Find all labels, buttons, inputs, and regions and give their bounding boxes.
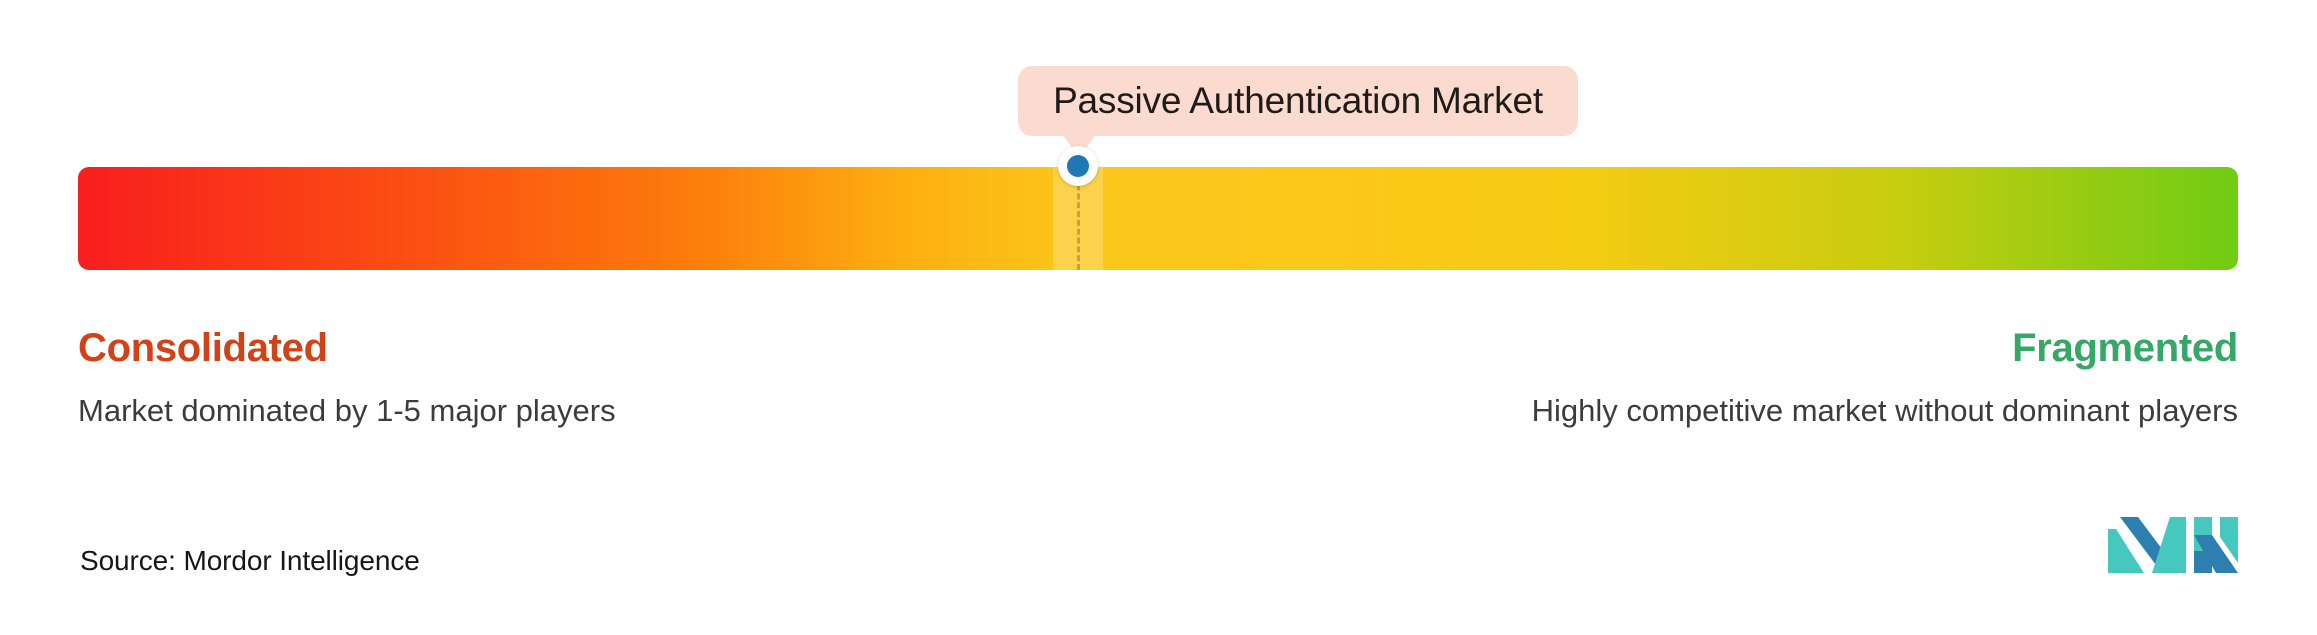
- consolidated-title: Consolidated: [78, 325, 616, 371]
- consolidated-endpoint: Consolidated Market dominated by 1-5 maj…: [78, 325, 616, 429]
- fragmented-description: Highly competitive market without domina…: [1532, 392, 2238, 429]
- scale-endpoint-labels: Consolidated Market dominated by 1-5 maj…: [78, 325, 2238, 429]
- fragmented-title: Fragmented: [1532, 325, 2238, 371]
- marker-dot-inner: [1067, 155, 1089, 177]
- consolidated-description: Market dominated by 1-5 major players: [78, 392, 616, 429]
- source-attribution: Source: Mordor Intelligence: [80, 545, 420, 577]
- marker-tooltip: Passive Authentication Market: [1018, 66, 1578, 136]
- marker-dot[interactable]: [1058, 146, 1098, 186]
- marker-tooltip-label: Passive Authentication Market: [1053, 80, 1543, 122]
- concentration-scale-bar: [78, 167, 2238, 270]
- gradient-track: [78, 167, 2238, 270]
- fragmented-endpoint: Fragmented Highly competitive market wit…: [1532, 325, 2238, 429]
- market-concentration-figure: Passive Authentication Market Consolidat…: [0, 0, 2317, 635]
- mordor-intelligence-logo-icon: [2108, 511, 2238, 573]
